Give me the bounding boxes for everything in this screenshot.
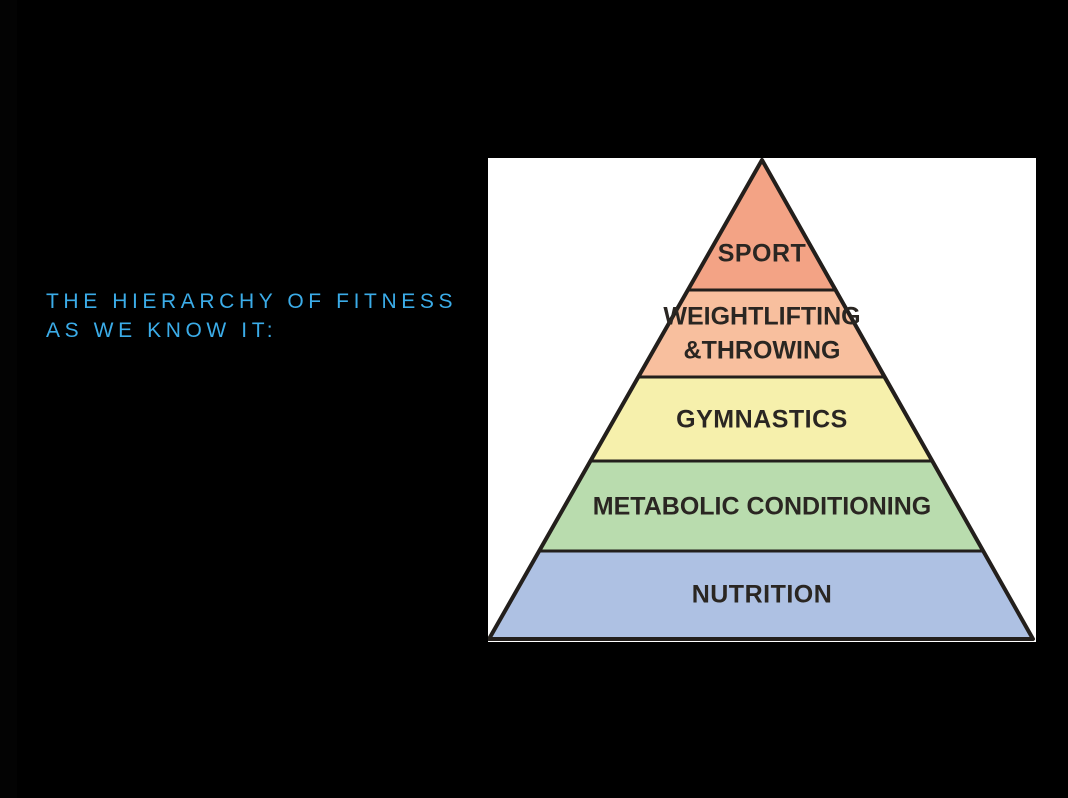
pyramid-tier-sport-shape xyxy=(688,160,836,290)
page-title: THE HIERARCHY OF FITNESS AS WE KNOW IT: xyxy=(46,287,476,345)
pyramid-tier-label-metabolic-conditioning: METABOLIC CONDITIONING xyxy=(593,493,931,521)
fitness-pyramid-diagram: SPORT WEIGHTLIFTING &THROWING GYMNASTICS… xyxy=(488,158,1036,642)
pyramid-tier-label-weightlifting-line1: WEIGHTLIFTING xyxy=(663,303,860,331)
pyramid-tier-label-sport: SPORT xyxy=(718,240,807,268)
pyramid-tier-label-weightlifting-line2: &THROWING xyxy=(684,337,841,365)
title-line-2: AS WE KNOW IT: xyxy=(46,316,476,345)
pyramid-image-panel: SPORT WEIGHTLIFTING &THROWING GYMNASTICS… xyxy=(488,158,1036,642)
slide-left-border xyxy=(0,0,17,798)
pyramid-tier-label-nutrition: NUTRITION xyxy=(692,581,833,609)
title-line-1: THE HIERARCHY OF FITNESS xyxy=(46,287,476,316)
pyramid-tier-label-gymnastics: GYMNASTICS xyxy=(676,406,848,434)
slide-canvas: THE HIERARCHY OF FITNESS AS WE KNOW IT: … xyxy=(0,0,1068,798)
